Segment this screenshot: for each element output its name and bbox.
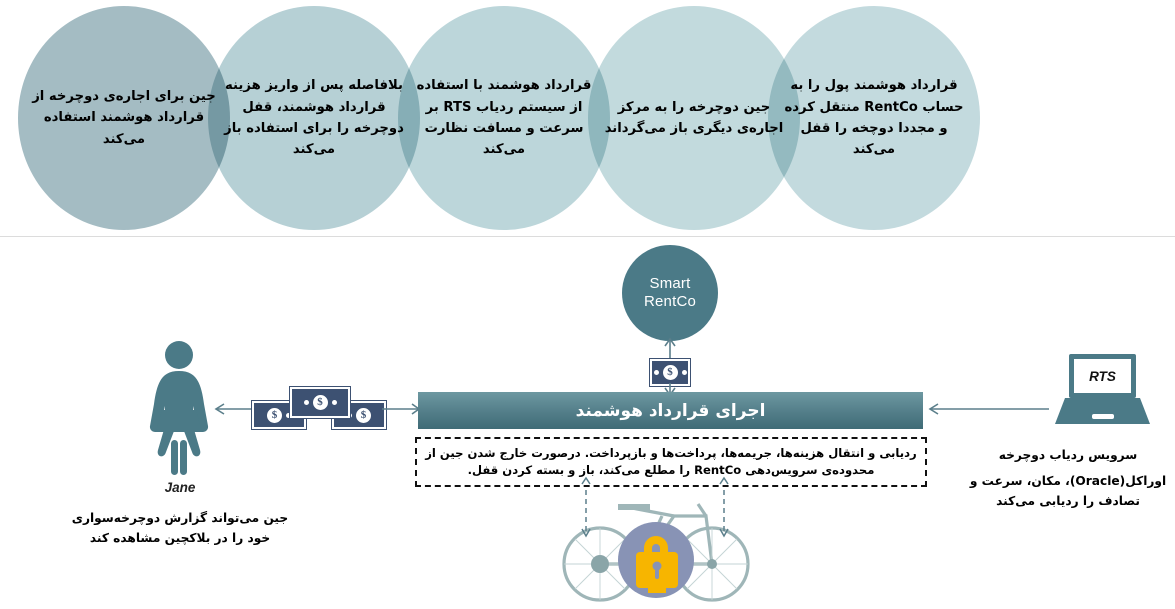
jane-name-label: Jane (128, 480, 232, 495)
smart-contract-detail-text: ردیابی و انتقال هزینه‌ها، جریمه‌ها، پردا… (425, 445, 917, 480)
money-dot-mid-b (304, 400, 309, 405)
smart-rentco-line2: RentCo (644, 293, 696, 311)
money-dot-left (682, 370, 687, 375)
step-label-4: جین دوچرخه را به مرکز اجاره‌ی دیگری باز … (594, 6, 794, 230)
rts-caption-line2: اوراکل(Oracle)، مکان، سرعت و تصادف را رد… (962, 471, 1174, 512)
jane-caption-text: جین می‌تواند گزارش دوچرخه‌سواری خود را د… (60, 509, 300, 549)
money-coin-middle: $ (313, 395, 328, 410)
money-note-center: $ (650, 359, 690, 386)
money-dot-right (654, 370, 659, 375)
smart-contract-detail-box: ردیابی و انتقال هزینه‌ها، جریمه‌ها، پردا… (415, 437, 927, 487)
rts-caption-line1: سرویس ردیاب دوچرخه (999, 448, 1137, 462)
step-label-1: جین برای اجاره‌ی دوچرخه از قرارداد هوشمن… (24, 6, 224, 230)
smart-contract-execution-bar: اجرای قرارداد هوشمند (418, 392, 923, 429)
step-label-3: قرارداد هوشمند با استفاده از سیستم ردیاب… (404, 6, 604, 230)
money-notes-group: $ $ $ (252, 387, 384, 433)
rts-laptop-icon: RTS (1055, 352, 1150, 430)
rts-caption-text: سرویس ردیاب دوچرخه اوراکل(Oracle)، مکان،… (962, 445, 1174, 512)
jane-person-icon (140, 340, 218, 475)
money-coin-center: $ (663, 365, 678, 380)
step-label-5: قرارداد هوشمند پول را به حساب RentCo منت… (774, 6, 974, 230)
smart-rentco-line1: Smart (649, 275, 690, 293)
section-divider (0, 236, 1175, 237)
arrow-contract-to-bike-right (716, 484, 732, 542)
arrow-money-to-contract-bar (382, 399, 422, 419)
smart-contract-bar-label: اجرای قرارداد هوشمند (576, 401, 766, 421)
smart-rentco-node: Smart RentCo (622, 245, 718, 341)
arrow-contract-to-bike-left (578, 484, 594, 542)
diagram-canvas: جین برای اجاره‌ی دوچرخه از قرارداد هوشمن… (0, 0, 1175, 609)
money-dot-mid-a (332, 400, 337, 405)
money-note-middle: $ (290, 387, 350, 418)
money-coin-left: $ (267, 408, 282, 423)
arrow-rts-to-contract-bar (927, 399, 1052, 419)
rts-screen-label: RTS (1089, 369, 1116, 384)
money-coin-right: $ (356, 408, 371, 423)
step-label-2: بلافاصله پس از واریز هزینه قرارداد هوشمن… (214, 6, 414, 230)
process-steps-band: جین برای اجاره‌ی دوچرخه از قرارداد هوشمن… (0, 0, 1175, 236)
